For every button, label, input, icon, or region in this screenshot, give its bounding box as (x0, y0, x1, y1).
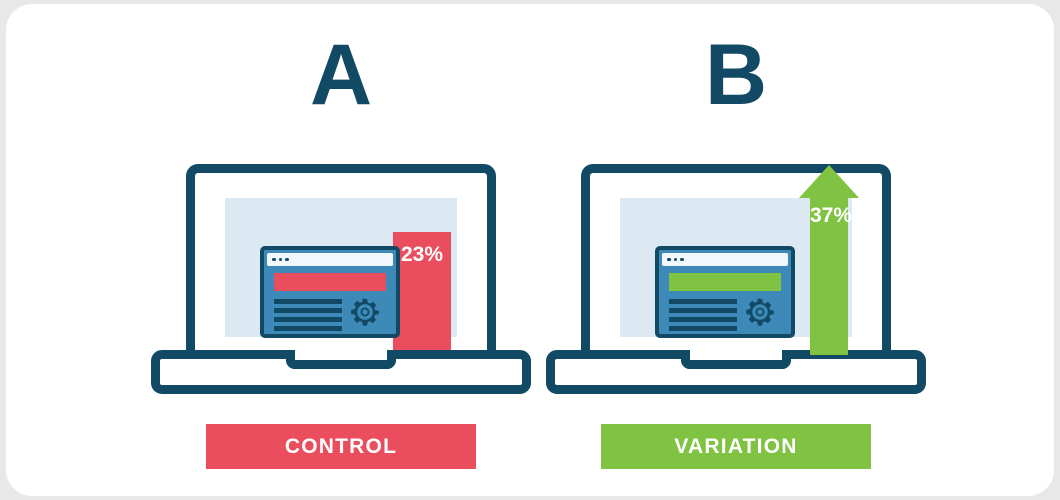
stat-bar-a: 23% (393, 232, 451, 356)
stat-value-b: 37% (810, 205, 848, 226)
text-line (669, 299, 737, 304)
stat-arrow-b: 37% (810, 165, 848, 355)
variant-b-letter: B (496, 32, 976, 118)
stat-value-a: 23% (393, 244, 451, 265)
window-dot-icon (680, 258, 684, 262)
variant-a-banner-label: CONTROL (285, 435, 397, 459)
text-line (274, 308, 342, 313)
text-line (669, 326, 737, 331)
window-dot-icon (279, 258, 283, 262)
laptop-b-trackpad-notch (681, 350, 791, 369)
gear-icon (350, 297, 380, 327)
laptop-a-lid: 23% (186, 164, 496, 359)
ab-test-illustration: A 23% (6, 4, 1054, 496)
window-dot-icon (674, 258, 678, 262)
laptop-a-screen: 23% (225, 198, 457, 337)
text-line (669, 308, 737, 313)
browser-hero-banner-b (669, 273, 781, 291)
browser-window-b (655, 246, 795, 338)
browser-text-lines-b (669, 299, 737, 335)
variant-a-banner: CONTROL (206, 424, 476, 469)
browser-text-lines-a (274, 299, 342, 335)
window-dot-icon (667, 258, 671, 262)
variant-b-banner-label: VARIATION (674, 435, 797, 459)
text-line (274, 299, 342, 304)
browser-titlebar-b (662, 253, 788, 266)
illustration-card: A 23% (6, 4, 1054, 496)
stat-arrow-b-head (799, 165, 859, 198)
text-line (669, 317, 737, 322)
laptop-b-screen: 37% (620, 198, 852, 337)
variant-b-group: B 37% (496, 4, 976, 496)
variant-b-banner: VARIATION (601, 424, 871, 469)
text-line (274, 326, 342, 331)
browser-hero-banner-a (274, 273, 386, 291)
gear-icon (745, 297, 775, 327)
laptop-b-lid: 37% (581, 164, 891, 359)
text-line (274, 317, 342, 322)
window-dot-icon (272, 258, 276, 262)
window-dot-icon (285, 258, 289, 262)
browser-titlebar-a (267, 253, 393, 266)
laptop-a-trackpad-notch (286, 350, 396, 369)
laptop-b: 37% (496, 164, 976, 404)
browser-window-a (260, 246, 400, 338)
